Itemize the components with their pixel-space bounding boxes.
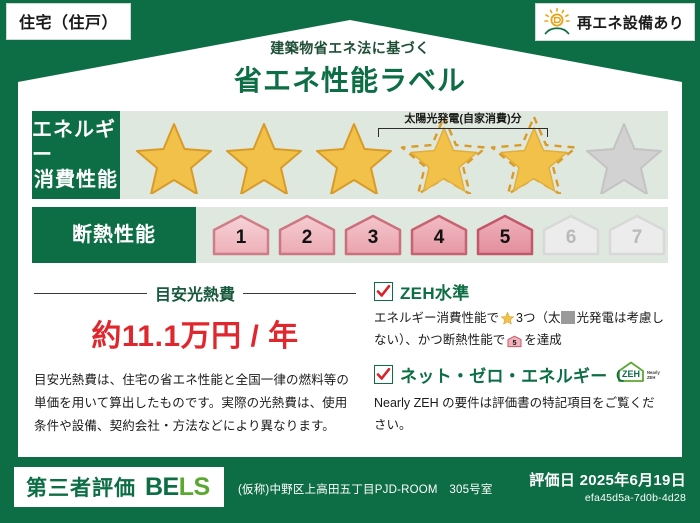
svg-text:ZEH: ZEH <box>647 375 655 380</box>
insulation-level-1: 1 <box>210 213 272 257</box>
star-1-filled <box>130 116 218 194</box>
insulation-level-5: 5 <box>474 213 536 257</box>
zeh-desc-part1: エネルギー消費性能で <box>374 311 499 325</box>
dwelling-type-tag: 住宅（住戸） <box>6 3 131 40</box>
dwelling-type-label: 住宅（住戸） <box>19 15 118 32</box>
insulation-rating-body: 1 2 <box>196 207 668 263</box>
insulation-level-2-number: 2 <box>276 227 338 249</box>
renewable-equipment-tag: 再エネ設備あり <box>535 3 695 41</box>
svg-text:5: 5 <box>513 338 517 347</box>
lower-content: 目安光熱費 約11.1万円 / 年 目安光熱費は、住宅の省エネ性能と全国一律の燃… <box>18 273 682 455</box>
net-zero-title-row: ネット・ゼロ・エネルギー ZEH Nearly ZEH <box>374 360 666 389</box>
insulation-level-7-number: 7 <box>606 227 668 249</box>
energy-performance-label: 住宅（住戸） <box>0 0 700 523</box>
net-zero-energy-block: ネット・ゼロ・エネルギー ZEH Nearly ZEH Nearly ZEH の… <box>374 360 666 437</box>
star-5-solar-dashed <box>490 116 578 194</box>
bels-logo-part1: BE <box>145 473 179 501</box>
zeh-column: ZEH水準 エネルギー消費性能で3つ（太光発電は考慮しない）、かつ断熱性能で5を… <box>370 273 682 455</box>
net-zero-description: Nearly ZEH の要件は評価書の特記項目をご覧ください。 <box>374 393 666 437</box>
insulation-level-2: 2 <box>276 213 338 257</box>
insulation-label: 断熱性能 <box>72 223 156 248</box>
inline-level-badge-icon: 5 <box>507 335 522 348</box>
insulation-performance-label-box: 断熱性能 <box>32 207 196 263</box>
cost-rule-right <box>243 293 356 294</box>
property-name: (仮称)中野区上高田五丁目PJD-ROOM 305号室 <box>238 481 493 497</box>
star-4-solar-dashed <box>400 116 488 194</box>
checkmark-icon <box>374 282 393 301</box>
energy-rating-body: 太陽光発電(自家消費)分 <box>120 111 668 199</box>
header: 住宅（住戸） <box>0 0 700 112</box>
cost-rule-left <box>34 293 147 294</box>
insulation-level-1-number: 1 <box>210 227 272 249</box>
insulation-level-4: 4 <box>408 213 470 257</box>
insulation-level-3-number: 3 <box>342 227 404 249</box>
utility-cost-column: 目安光熱費 約11.1万円 / 年 目安光熱費は、住宅の省エネ性能と全国一律の燃… <box>18 273 370 455</box>
zeh-desc-part2: 3つ（太 <box>516 311 560 325</box>
utility-cost-value: 約11.1万円 / 年 <box>34 311 356 355</box>
star-3-filled <box>310 116 398 194</box>
insulation-level-5-number: 5 <box>474 227 536 249</box>
insulation-level-3: 3 <box>342 213 404 257</box>
energy-label-line2: 消費性能 <box>34 168 118 193</box>
footer: 第三者評価 BELS (仮称)中野区上高田五丁目PJD-ROOM 305号室 評… <box>0 457 700 523</box>
label-card: エネルギー 消費性能 <box>18 97 682 457</box>
checkmark-icon <box>374 365 393 384</box>
svg-text:ZEH: ZEH <box>622 369 640 379</box>
utility-cost-note: 目安光熱費は、住宅の省エネ性能と全国一律の燃料等の単価を用いて算出したものです。… <box>34 369 356 438</box>
energy-performance-label-box: エネルギー 消費性能 <box>32 111 120 199</box>
third-party-evaluation-label: 第三者評価 <box>26 472 136 502</box>
zeh-standard-description: エネルギー消費性能で3つ（太光発電は考慮しない）、かつ断熱性能で5を達成 <box>374 308 666 352</box>
bels-logo-part2: LS <box>179 473 210 501</box>
zeh-standard-title-row: ZEH水準 <box>374 279 666 304</box>
bels-certification-box: 第三者評価 BELS <box>14 467 224 507</box>
zeh-standard-title: ZEH水準 <box>400 279 470 304</box>
title-block: 建築物省エネ法に基づく 省エネ性能ラベル <box>0 38 700 99</box>
redaction-block <box>561 311 575 324</box>
star-2-filled <box>220 116 308 194</box>
energy-performance-row: エネルギー 消費性能 <box>32 111 668 199</box>
insulation-level-4-number: 4 <box>408 227 470 249</box>
star-6-empty <box>580 116 668 194</box>
sun-renewable-icon <box>542 7 572 37</box>
renewable-equipment-label: 再エネ設備あり <box>577 12 684 33</box>
bels-logo: BELS <box>145 473 210 502</box>
energy-label-line1: エネルギー <box>32 118 120 168</box>
evaluation-info: 評価日 2025年6月19日 efa45d5a-7d0b-4d28 <box>529 469 686 504</box>
inline-star-icon <box>500 310 515 325</box>
zeh-house-logo-icon: ZEH Nearly ZEH <box>615 360 661 389</box>
insulation-level-scale: 1 2 <box>196 213 668 257</box>
insulation-level-7: 7 <box>606 213 668 257</box>
star-rating <box>120 116 668 194</box>
evaluation-id: efa45d5a-7d0b-4d28 <box>529 492 686 504</box>
zeh-desc-part4: を達成 <box>524 333 562 347</box>
insulation-performance-row: 断熱性能 1 <box>32 207 668 263</box>
insulation-level-6: 6 <box>540 213 602 257</box>
utility-cost-heading: 目安光熱費 <box>34 281 356 305</box>
evaluation-date: 評価日 2025年6月19日 <box>529 469 686 490</box>
insulation-level-6-number: 6 <box>540 227 602 249</box>
zeh-standard-block: ZEH水準 エネルギー消費性能で3つ（太光発電は考慮しない）、かつ断熱性能で5を… <box>374 279 666 352</box>
net-zero-title: ネット・ゼロ・エネルギー <box>400 362 608 387</box>
title-subtitle: 建築物省エネ法に基づく <box>0 38 700 58</box>
utility-cost-heading-text: 目安光熱費 <box>155 281 235 305</box>
title-main: 省エネ性能ラベル <box>0 59 700 99</box>
